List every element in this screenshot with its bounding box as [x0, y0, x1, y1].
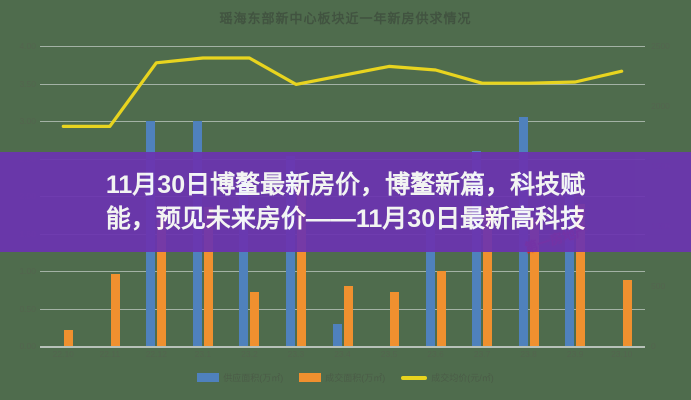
- x-axis-tick-label: 23.8: [520, 349, 537, 359]
- chart-title: 瑶海东部新中心板块近一年新房供求情况: [0, 8, 691, 27]
- x-axis-tick-label: 23.1: [195, 349, 212, 359]
- article-title-overlay: 11月30日博鳌最新房价，博鳌新篇，科技赋 能，预见未来房价——11月30日最新…: [0, 152, 691, 252]
- x-axis-tick-label: 23.7: [474, 349, 491, 359]
- x-axis-tick-label: 22.10: [53, 349, 74, 359]
- x-axis-tick-label: 23.10: [611, 349, 632, 359]
- left-axis-tick-label: 1.00: [2, 266, 36, 276]
- left-axis-tick-label: 4.00: [2, 41, 36, 51]
- right-axis-tick-label: 2000: [651, 101, 689, 111]
- left-axis-tick-label: 3.00: [2, 116, 36, 126]
- chart-legend: 供应面积(万㎡) 成交面积(万㎡) 成交均价(元/㎡): [0, 371, 691, 384]
- legend-label-price: 成交均价(元/㎡): [431, 371, 494, 384]
- x-axis-tick-label: 23.2: [241, 349, 258, 359]
- x-axis-tick-label: 23.6: [427, 349, 444, 359]
- legend-item-supply: 供应面积(万㎡): [197, 371, 283, 384]
- legend-item-deal: 成交面积(万㎡): [299, 371, 385, 384]
- legend-item-price: 成交均价(元/㎡): [401, 371, 494, 384]
- x-axis-line: [40, 346, 645, 348]
- right-axis-tick-label: 0: [651, 341, 689, 351]
- left-axis-tick-label: 0.00: [2, 341, 36, 351]
- legend-swatch-supply: [197, 373, 219, 382]
- x-axis-tick-label: 23.3: [288, 349, 305, 359]
- legend-label-supply: 供应面积(万㎡): [223, 371, 283, 384]
- legend-label-deal: 成交面积(万㎡): [325, 371, 385, 384]
- x-axis-tick-label: 22.11: [99, 349, 120, 359]
- article-title-line-2: 能，预见未来房价——11月30日最新高科技: [106, 202, 585, 236]
- left-axis-tick-label: 3.50: [2, 79, 36, 89]
- screenshot-root: 瑶海东部新中心板块近一年新房供求情况 0.000.501.001.502.002…: [0, 0, 691, 400]
- left-axis-tick-label: 0.50: [2, 304, 36, 314]
- right-axis-tick-label: 2500: [651, 41, 689, 51]
- article-title-line-1: 11月30日博鳌最新房价，博鳌新篇，科技赋: [106, 168, 585, 202]
- x-axis-tick-label: 23.4: [334, 349, 351, 359]
- x-axis-tick-label: 23.9: [567, 349, 584, 359]
- x-axis-tick-label: 23.5: [381, 349, 398, 359]
- legend-swatch-price: [401, 376, 427, 380]
- legend-swatch-deal: [299, 373, 321, 382]
- price-line: [63, 58, 621, 126]
- x-axis-tick-label: 22.12: [146, 349, 167, 359]
- right-axis-tick-label: 500: [651, 281, 689, 291]
